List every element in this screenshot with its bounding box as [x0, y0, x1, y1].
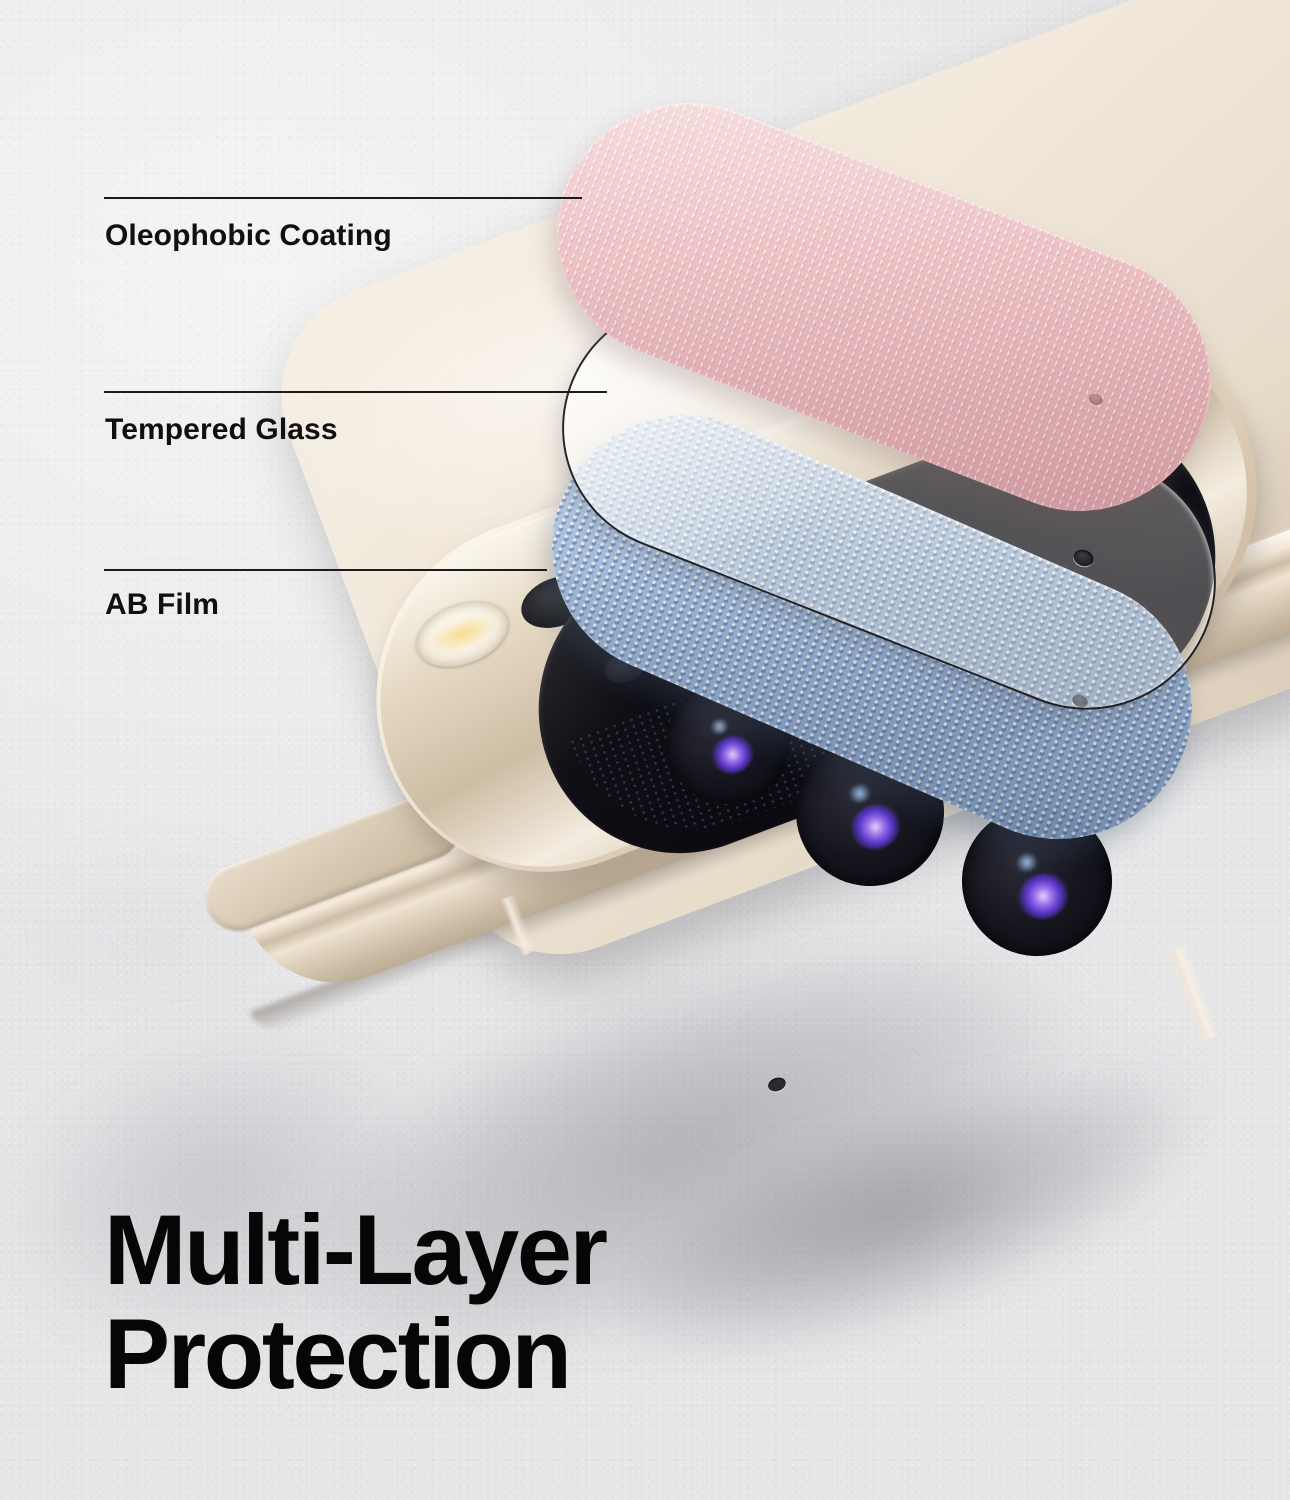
antenna-seam — [1166, 944, 1220, 1042]
glass-cutout-hole — [1071, 547, 1096, 569]
headline-line-1: Multi-Layer — [104, 1198, 606, 1302]
leader-line — [104, 391, 607, 393]
leader-line — [104, 197, 582, 199]
lens-flare-icon — [1011, 866, 1075, 926]
callout-label-oleophobic-coating: Oleophobic Coating — [105, 219, 392, 253]
lens-highlight-icon — [846, 781, 874, 806]
callout-label-ab-film: AB Film — [105, 588, 219, 622]
callout-label-tempered-glass: Tempered Glass — [105, 413, 338, 447]
lens-flare-icon — [707, 730, 760, 780]
product-feature-image: Oleophobic Coating Tempered Glass AB Fil… — [0, 0, 1290, 1500]
lens-highlight-icon — [1012, 850, 1041, 875]
microphone-hole — [766, 1075, 787, 1093]
lens-flare-icon — [844, 798, 907, 857]
headline-line-2: Protection — [104, 1302, 570, 1406]
lens-highlight-icon — [708, 716, 732, 737]
leader-line — [104, 569, 547, 571]
